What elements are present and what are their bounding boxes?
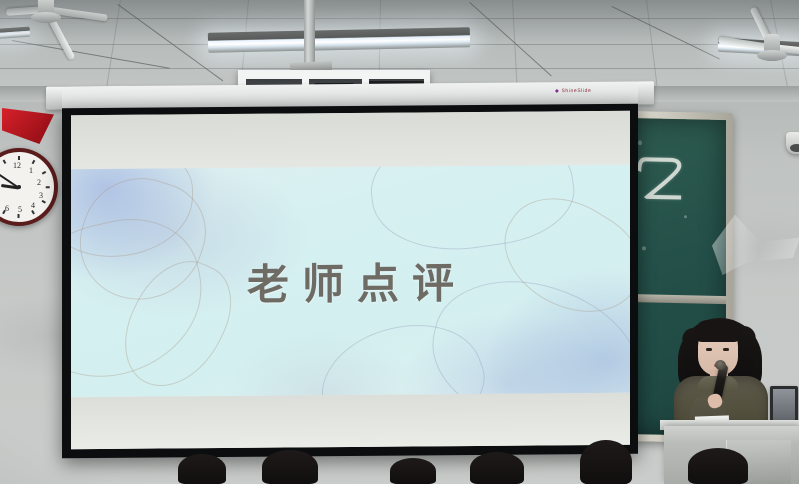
projected-slide: 老师点评: [71, 165, 630, 397]
student-head: [688, 448, 748, 484]
student-head: [178, 454, 226, 484]
clock-hour-12: 12: [13, 161, 21, 170]
projection-screen-surface: 老师点评: [71, 111, 630, 449]
clock-hour-6: 6: [5, 204, 9, 213]
student-head: [580, 440, 632, 484]
ceiling-wire: [612, 6, 720, 60]
wall-mounted-sensor: [786, 132, 799, 154]
ceiling-wire: [469, 2, 551, 76]
clock-hour-3: 3: [39, 191, 43, 200]
student-head: [390, 458, 436, 484]
clock-hour-2: 2: [37, 178, 41, 187]
roller-brand-label: ◆ShineSlide: [555, 88, 591, 94]
slide-title: 老师点评: [71, 248, 630, 313]
student-head: [470, 452, 524, 484]
clock-hour-5: 5: [18, 205, 22, 214]
clock-hour-4: 4: [31, 201, 35, 210]
student-head: [262, 450, 318, 484]
clock-hour-1: 1: [29, 166, 33, 175]
screen-blank-area-bottom: [71, 393, 630, 449]
fluorescent-light-main: [208, 27, 470, 52]
classroom-photo: 12 1 2 3 4 5 6 乙: [0, 0, 799, 484]
ceiling-fan-left: [16, 0, 76, 46]
projection-screen: 老师点评: [62, 104, 638, 459]
ceiling-fan-right: [744, 34, 799, 76]
screen-blank-area-top: [71, 111, 630, 169]
chalkboard-writing: 乙: [634, 144, 686, 220]
